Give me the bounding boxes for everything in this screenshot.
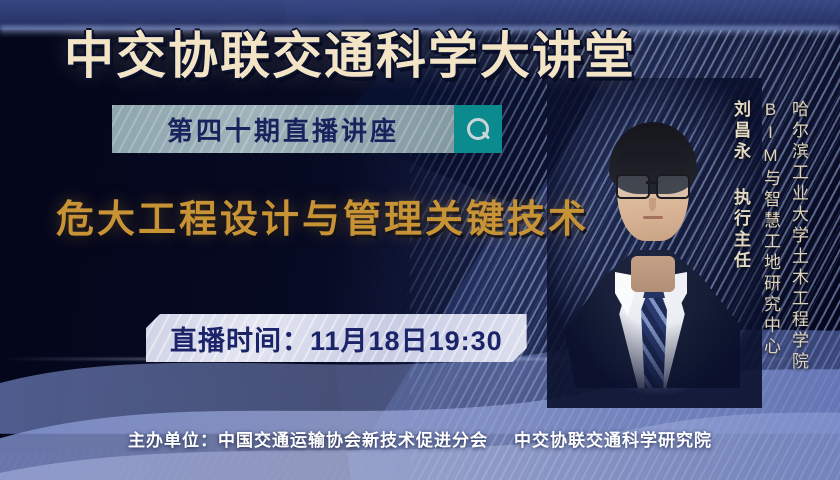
- speaker-affiliation-school: 哈尔滨工业大学土木工程学院: [786, 100, 811, 373]
- portrait-nose: [649, 198, 656, 211]
- search-icon: [467, 118, 489, 140]
- speaker-affiliation-center: BIM与智慧工地研究中心: [758, 100, 783, 358]
- portrait-mouth: [643, 216, 663, 219]
- portrait-lens-left: [616, 174, 650, 199]
- portrait-neck: [631, 256, 675, 292]
- footer-organizer-primary: 主办单位：中国交通运输协会新技术促进分会: [128, 431, 488, 450]
- subtitle-label: 第四十期直播讲座: [167, 111, 399, 148]
- webinar-poster: 中交协联交通科学大讲堂 第四十期直播讲座 危大工程设计与管理关键技术 直播时间：…: [0, 0, 840, 480]
- portrait-eyebrow-right: [664, 170, 686, 173]
- speaker-role: 执行主任: [728, 188, 753, 272]
- glasses-icon: [615, 174, 691, 196]
- speaker-name: 刘昌永: [728, 100, 753, 163]
- lecture-topic: 危大工程设计与管理关键技术: [56, 188, 589, 243]
- subtitle-banner: 第四十期直播讲座: [112, 105, 502, 153]
- footer-organizers: 主办单位：中国交通运输协会新技术促进分会中交协联交通科学研究院: [0, 426, 840, 451]
- subtitle-bar: 第四十期直播讲座: [112, 105, 454, 153]
- portrait-tie: [641, 288, 667, 388]
- search-button[interactable]: [454, 105, 502, 153]
- portrait-eyebrow-left: [620, 170, 642, 173]
- speaker-portrait: [565, 88, 740, 388]
- portrait-lens-right: [656, 174, 690, 199]
- footer-organizer-secondary: 中交协联交通科学研究院: [514, 431, 712, 450]
- live-time-text: 直播时间：11月18日19:30: [170, 319, 503, 358]
- live-time-badge: 直播时间：11月18日19:30: [146, 314, 527, 362]
- page-title: 中交协联交通科学大讲堂: [0, 16, 700, 88]
